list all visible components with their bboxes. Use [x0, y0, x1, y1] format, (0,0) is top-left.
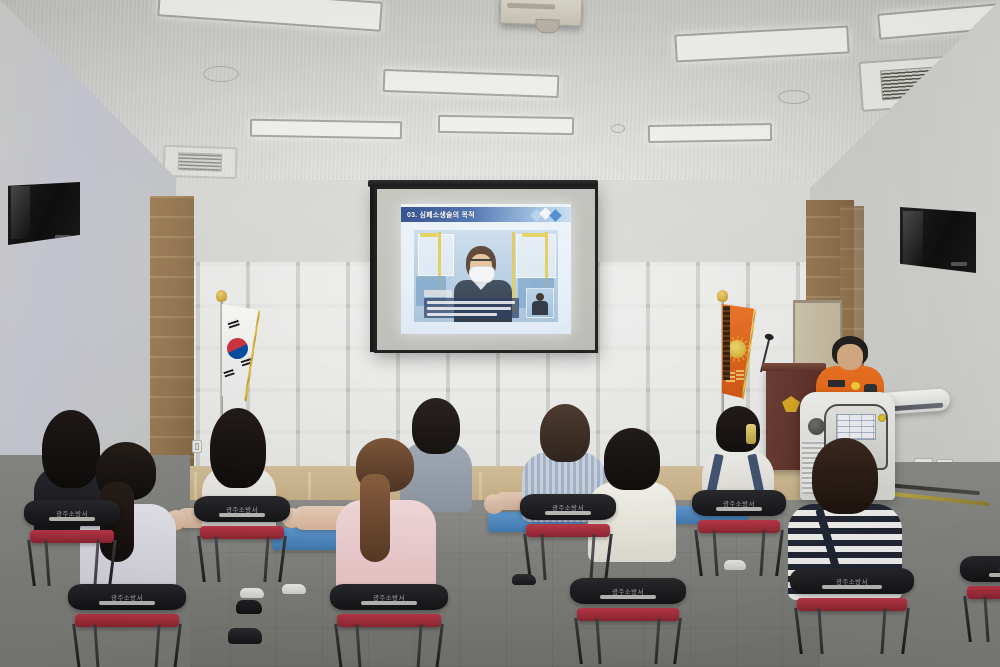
chair-legs: [196, 536, 288, 582]
chair[interactable]: 광주소방서: [570, 578, 686, 666]
chair[interactable]: 광주소방서: [330, 584, 448, 667]
ceiling-speaker-dome: [778, 90, 810, 104]
light-panel: [648, 123, 772, 143]
taeguk-symbol-icon: [227, 338, 248, 359]
chair-back: 광주소방서: [790, 568, 914, 594]
chair-back-slot: [219, 513, 265, 517]
chair-legs: [26, 540, 118, 586]
chair-back-slot: [49, 517, 95, 521]
chair-back-slot: [600, 595, 656, 599]
bus-handrail: [522, 233, 548, 237]
chair[interactable]: 광주소방서: [520, 494, 616, 586]
flagpole-finial-icon: [717, 290, 728, 302]
video-subject-face-mask: [469, 266, 495, 283]
chair-back: 광주소방서: [692, 490, 786, 516]
instructor-name-tag: [828, 380, 845, 387]
attendee-hairpin-icon: [746, 424, 756, 444]
trigram-icon: [223, 369, 234, 378]
training-room-photo: 03. 심폐소생술의 목적: [0, 0, 1000, 667]
chair-back-slot: [716, 507, 761, 511]
speaker-badge: [951, 262, 967, 266]
chair-legs: [70, 624, 183, 667]
flag-text-line: [736, 368, 744, 380]
chair-legs: [522, 534, 614, 580]
instructor-logo-icon: [851, 382, 860, 390]
chair-legs: [332, 624, 445, 667]
manikin-head: [484, 494, 504, 514]
chair-back: 광주소방서: [960, 556, 1000, 582]
attendee-hair: [540, 404, 590, 462]
chair[interactable]: 광주소방서: [194, 496, 290, 588]
chair[interactable]: 광주소방서: [960, 556, 1000, 646]
wall-speaker-right: [900, 207, 976, 273]
chair-legs: [572, 618, 683, 664]
speaker-gloss: [903, 211, 923, 266]
ac-vent: [162, 145, 237, 180]
korean-national-flag: [196, 290, 252, 420]
attendee-4: [334, 438, 438, 594]
chair-back-slot: [361, 601, 418, 605]
attendee-hair: [210, 408, 266, 488]
flag-vertical-banner: [723, 306, 730, 380]
sign-language-inset: [526, 288, 554, 318]
attendee-shoe: [236, 600, 262, 614]
interpreter-body: [532, 301, 548, 315]
bus-handrail: [420, 233, 438, 237]
cart-info-label: [836, 414, 876, 440]
attendee-shoe: [282, 584, 306, 594]
slide-title: 03. 심폐소생술의 목적: [401, 210, 475, 220]
attendee-shoe: [724, 560, 746, 570]
instructor-face: [837, 344, 863, 370]
flagpole-finial-icon: [216, 290, 227, 302]
video-subject-glasses-icon: [470, 259, 492, 266]
attendee-shoe: [228, 628, 262, 644]
attendee-shoe: [512, 574, 536, 585]
attendee-hair: [604, 428, 660, 490]
chair-back: 광주소방서: [330, 584, 448, 610]
cart-dial-icon: [808, 418, 825, 435]
chair-legs: [962, 596, 1000, 642]
chair-back: 광주소방서: [194, 496, 290, 522]
chair[interactable]: 광주소방서: [790, 568, 914, 658]
presentation-slide: 03. 심폐소생술의 목적: [401, 204, 571, 334]
ceiling-speaker-dome: [203, 66, 239, 82]
chair-back-slot: [989, 573, 1000, 577]
chair-back-slot: [545, 511, 591, 515]
chair[interactable]: 광주소방서: [68, 584, 186, 667]
slide-video-frame: [414, 230, 558, 322]
interpreter-head: [536, 293, 544, 301]
smoke-detector-icon: [611, 124, 625, 133]
chair-legs: [792, 608, 911, 654]
screen-surface: 03. 심폐소생술의 목적: [377, 189, 595, 350]
slide-title-bar: 03. 심폐소생술의 목적: [401, 207, 571, 222]
chair-back: 광주소방서: [68, 584, 186, 610]
trigram-icon: [227, 318, 240, 328]
cart-indicator-light: [878, 414, 886, 422]
chair-back: 광주소방서: [24, 500, 120, 526]
light-panel: [250, 119, 402, 140]
video-name-tag: [424, 290, 452, 297]
slide-diamond-decor-icon: [532, 209, 566, 221]
video-subtitle-band: [424, 298, 519, 318]
wood-column-left: [150, 196, 194, 476]
podium-emblem-icon: [782, 396, 800, 412]
projection-screen: 03. 심폐소생술의 목적: [374, 186, 598, 353]
light-panel: [438, 115, 574, 135]
fire-service-flag: [700, 290, 756, 422]
chair-back: 광주소방서: [570, 578, 686, 604]
projector-vent: [507, 3, 555, 10]
attendee-shoe: [240, 588, 264, 598]
chair-back-slot: [822, 585, 882, 589]
wall-speaker-left: [8, 182, 80, 245]
bus-window: [516, 234, 556, 278]
bus-window: [418, 234, 454, 276]
attendee-ponytail: [360, 474, 390, 562]
chair-back: 광주소방서: [520, 494, 616, 520]
speaker-gloss: [11, 186, 30, 239]
attendee-hair: [812, 438, 878, 514]
chair[interactable]: 광주소방서: [24, 500, 120, 592]
ceiling-projector: [500, 0, 583, 26]
chair-back-slot: [99, 601, 156, 605]
